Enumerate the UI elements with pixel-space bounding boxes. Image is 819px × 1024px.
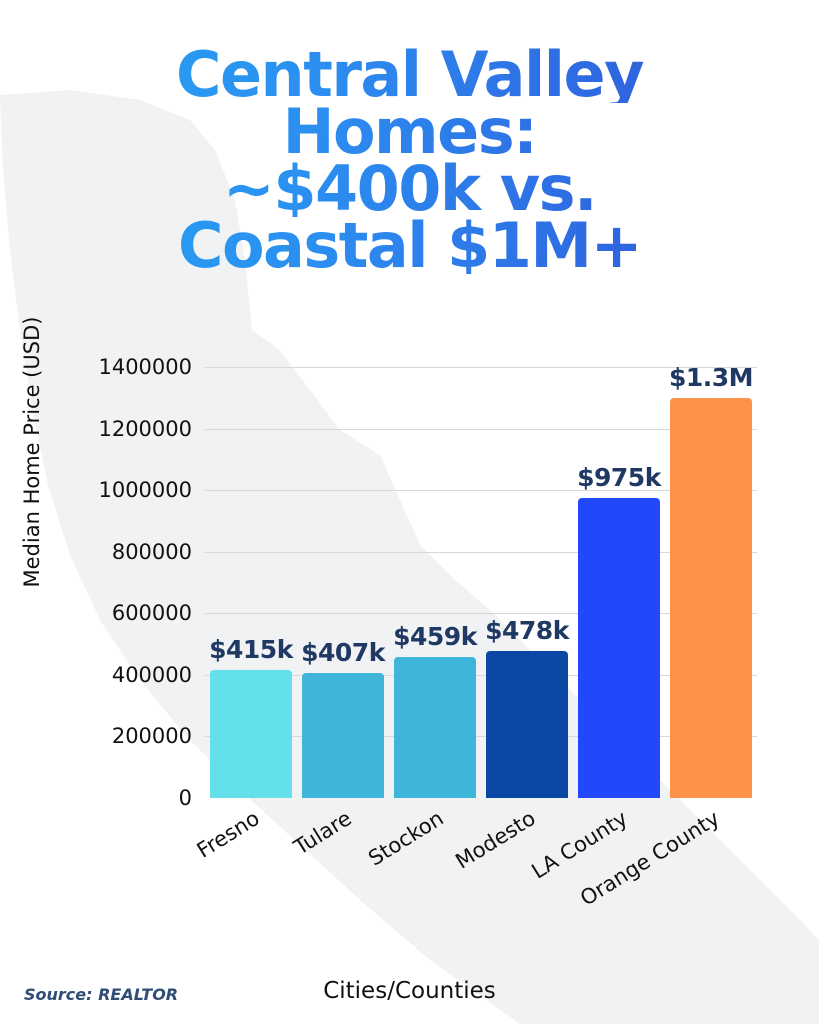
y-axis-tick-label: 800000 <box>112 540 192 564</box>
y-axis-tick-label: 600000 <box>112 601 192 625</box>
bar-orange-county[interactable] <box>670 398 752 798</box>
bar-series: $415k$407k$459k$478k$975k$1.3M <box>205 367 757 798</box>
y-axis-tick-label: 0 <box>179 786 192 810</box>
bar-value-label: $415k <box>209 635 293 664</box>
y-axis-tick-label: 200000 <box>112 724 192 748</box>
bar-slot: $459k <box>394 367 476 798</box>
bar-value-label: $1.3M <box>669 363 753 392</box>
y-axis-tick-label: 1200000 <box>98 417 192 441</box>
y-axis-tick-label: 1000000 <box>98 478 192 502</box>
page-title: Central Valley Homes: ~$400k vs. Coastal… <box>0 46 819 274</box>
infographic-poster: Central Valley Homes: ~$400k vs. Coastal… <box>0 0 819 1024</box>
y-axis-tick-label: 400000 <box>112 663 192 687</box>
y-axis-tick-label: 1400000 <box>98 355 192 379</box>
bar-slot: $478k <box>486 367 568 798</box>
bar-fresno[interactable] <box>210 670 292 798</box>
title-line-4: Coastal $1M+ <box>0 217 819 274</box>
bar-stockon[interactable] <box>394 657 476 798</box>
bar-la-county[interactable] <box>578 498 660 798</box>
bar-value-label: $407k <box>301 638 385 667</box>
bar-value-label: $975k <box>577 463 661 492</box>
bar-modesto[interactable] <box>486 651 568 798</box>
source-note: Source: REALTOR <box>24 985 178 1004</box>
bar-slot: $975k <box>578 367 660 798</box>
bar-slot: $415k <box>210 367 292 798</box>
y-axis-tick-labels: 0200000400000600000800000100000012000001… <box>0 367 192 798</box>
bar-value-label: $459k <box>393 622 477 651</box>
bar-slot: $1.3M <box>670 367 752 798</box>
bar-slot: $407k <box>302 367 384 798</box>
bar-value-label: $478k <box>485 616 569 645</box>
bar-tulare[interactable] <box>302 673 384 798</box>
